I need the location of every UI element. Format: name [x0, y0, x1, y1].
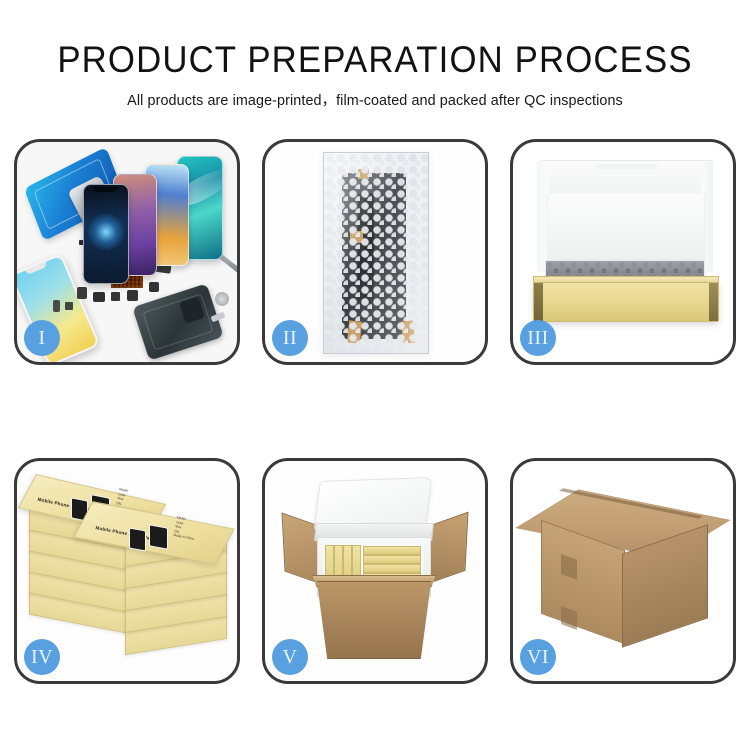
panel-step-6[interactable]: VI: [510, 458, 736, 684]
box-art-screen-front-1: [129, 528, 146, 552]
box-stack: Mobile Phone Spare Parts Model Color Siz…: [25, 477, 227, 667]
phone-back-shell: [132, 283, 223, 360]
plastic-sheen-overlay: [324, 153, 428, 353]
step-badge-5: V: [272, 639, 308, 675]
header: PRODUCT PREPARATION PROCESS All products…: [0, 0, 750, 110]
round-tool-part: [215, 292, 229, 306]
process-step-grid: I II: [14, 139, 736, 684]
step-badge-1: I: [24, 320, 60, 356]
phone-screen-dark-icon: [83, 184, 129, 284]
small-part-8: [149, 282, 159, 292]
step-badge-4: IV: [24, 639, 60, 675]
page-root: PRODUCT PREPARATION PROCESS All products…: [0, 0, 750, 750]
panel-step-2[interactable]: II: [262, 139, 488, 365]
small-part-3: [111, 292, 120, 301]
box-front-panel: [533, 282, 719, 322]
carton-front-face: [309, 581, 439, 659]
box-art-screen-front-2: [149, 524, 168, 549]
small-part-4: [127, 290, 138, 301]
page-subtitle: All products are image-printed，film-coat…: [4, 92, 747, 110]
panel-step-5[interactable]: V: [262, 458, 488, 684]
step-badge-3: III: [520, 320, 556, 356]
packed-box-5: [363, 546, 421, 555]
panel-step-3[interactable]: III: [510, 139, 736, 365]
page-title: PRODUCT PREPARATION PROCESS: [23, 38, 728, 82]
panel-step-1[interactable]: I: [14, 139, 240, 365]
small-part-6: [65, 302, 73, 310]
bubble-wrap-bag: [323, 152, 429, 354]
small-part-5: [53, 300, 60, 312]
box-spec-text-front: Model Color Size Qty Made in China: [173, 515, 198, 541]
small-part-1: [77, 287, 87, 299]
step-badge-2: II: [272, 320, 308, 356]
packed-box-6: [363, 555, 421, 564]
panel-step-4[interactable]: Mobile Phone Spare Parts Model Color Siz…: [14, 458, 240, 684]
white-foam-sheet: [547, 194, 705, 266]
packed-box-7: [363, 564, 421, 573]
step-badge-6: VI: [520, 639, 556, 675]
small-part-2: [93, 292, 105, 302]
